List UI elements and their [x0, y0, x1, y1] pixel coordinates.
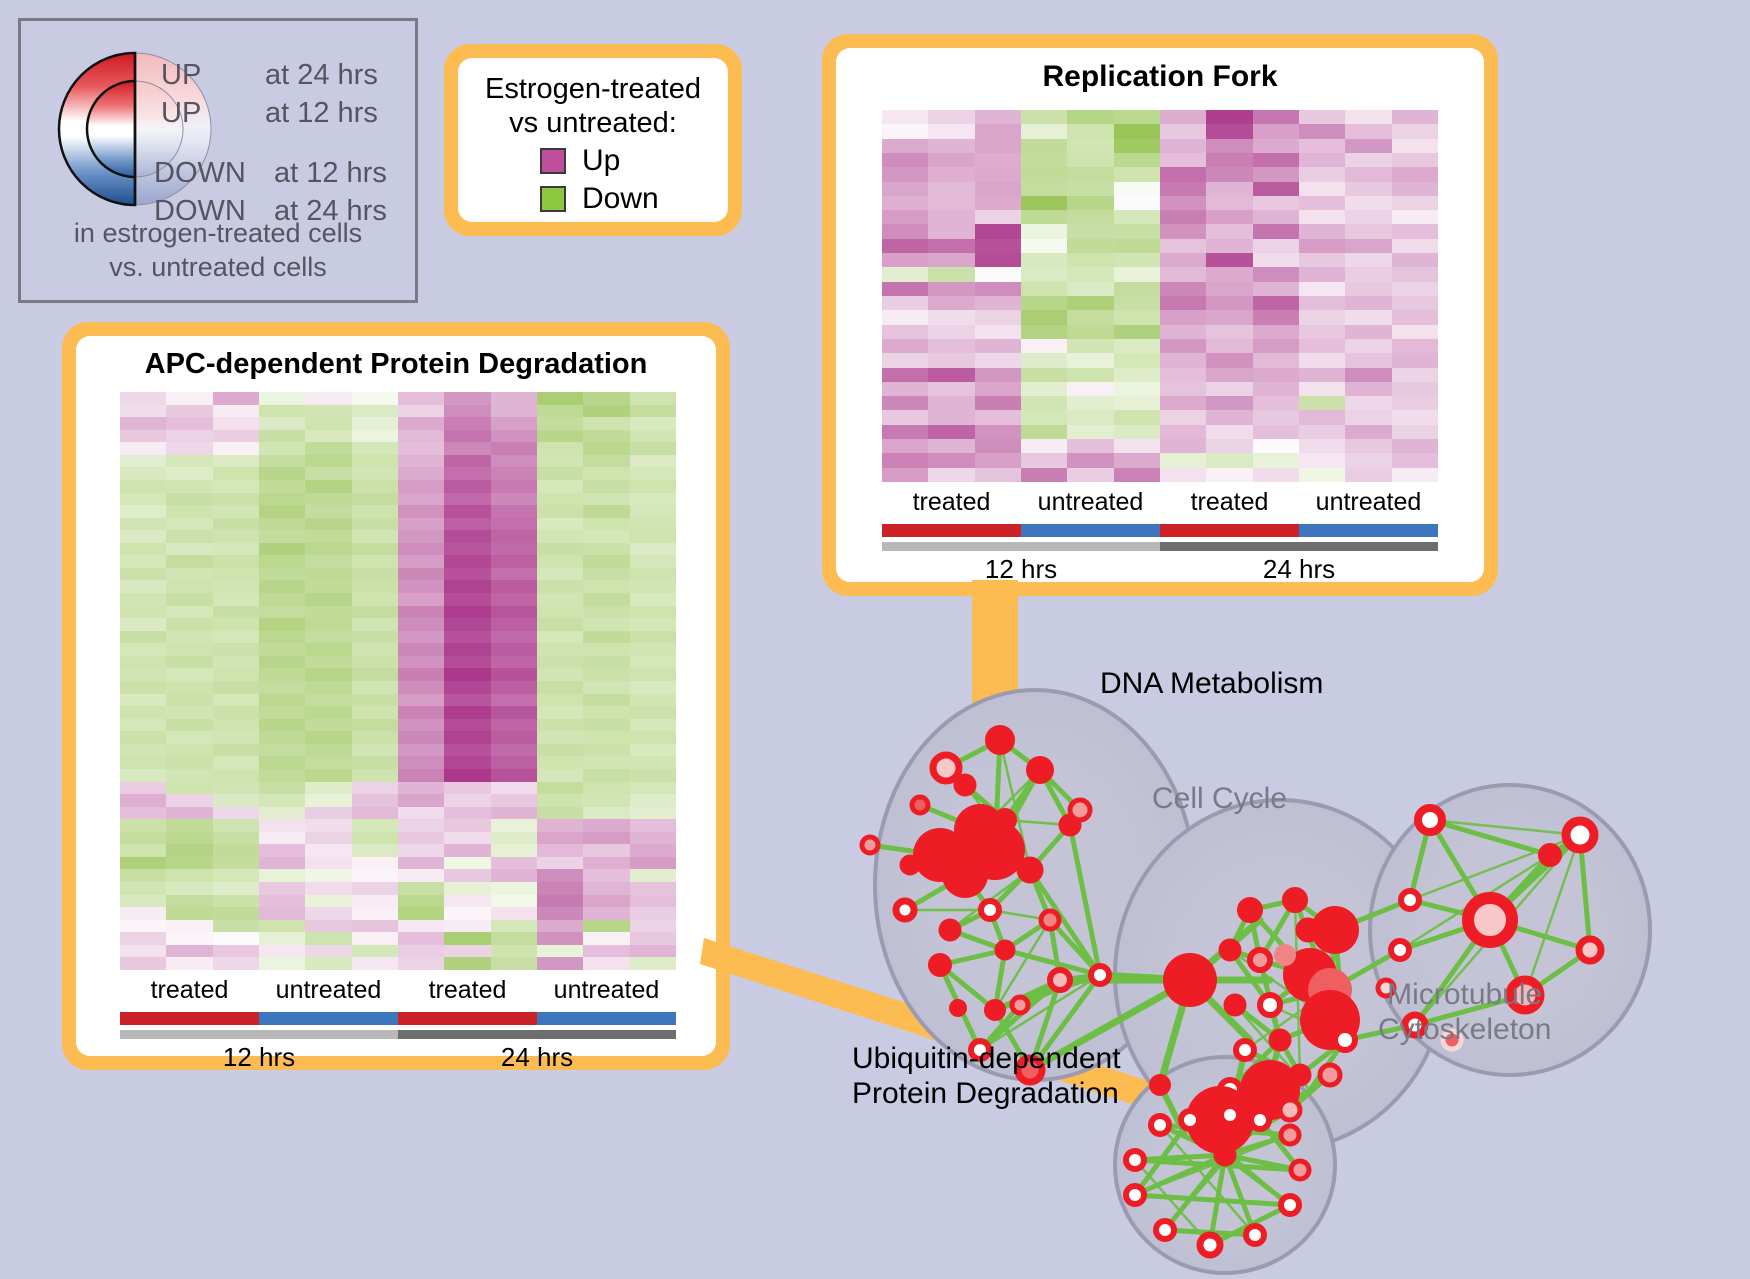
heatmap-cell: [166, 957, 212, 970]
heatmap-cell: [1253, 124, 1299, 138]
heatmap-cell: [213, 794, 259, 807]
heatmap-cell: [305, 631, 351, 644]
heatmap-cell: [1067, 310, 1113, 324]
heatmap-cell: [1160, 410, 1206, 424]
heatmap-cell: [213, 606, 259, 619]
heatmap-cell: [882, 239, 928, 253]
heatmap-cell: [259, 555, 305, 568]
heatmap-cell: [120, 731, 166, 744]
heatmap-cell: [1021, 339, 1067, 353]
heatmap-cell: [1114, 139, 1160, 153]
heatmap-cell: [398, 518, 444, 531]
heatmap-cell: [1114, 382, 1160, 396]
time-bar-segment-0: [120, 1030, 398, 1039]
heatmap-cell: [120, 392, 166, 405]
color-key-caption-line1: in estrogen-treated cells: [21, 217, 415, 251]
heatmap-cell: [398, 455, 444, 468]
heatmap-cell: [1253, 239, 1299, 253]
heatmap-cell: [630, 957, 676, 970]
heatmap-cell: [259, 694, 305, 707]
heatmap-cell: [1253, 267, 1299, 281]
heatmap-cell: [120, 681, 166, 694]
heatmap-cell: [975, 139, 1021, 153]
heatmap-cell: [537, 706, 583, 719]
heatmap-cell: [120, 530, 166, 543]
heatmap-cell: [882, 296, 928, 310]
heatmap-cell: [975, 239, 1021, 253]
heatmap-cell: [1160, 267, 1206, 281]
heatmap-cell: [1021, 153, 1067, 167]
heatmap-cell: [1067, 382, 1113, 396]
heatmap-cell: [1160, 396, 1206, 410]
heatmap-cell: [213, 920, 259, 933]
heatmap-cell: [398, 606, 444, 619]
heatmap-cell: [1392, 253, 1438, 267]
heatmap-cell: [398, 467, 444, 480]
heatmap-cell: [259, 807, 305, 820]
heatmap-cell: [444, 606, 490, 619]
apc-time-bar: [120, 1030, 676, 1039]
heatmap-cell: [1160, 382, 1206, 396]
heatmap-cell: [259, 480, 305, 493]
heatmap-cell: [1021, 253, 1067, 267]
heatmap-cell: [120, 480, 166, 493]
heatmap-cell: [1067, 224, 1113, 238]
heatmap-cell: [1160, 439, 1206, 453]
legend-title-line1: Estrogen-treated: [458, 72, 728, 106]
heatmap-cell: [166, 631, 212, 644]
heatmap-cell: [1345, 425, 1391, 439]
heatmap-cell: [1392, 282, 1438, 296]
heatmap-cell: [491, 832, 537, 845]
heatmap-cell: [537, 530, 583, 543]
heatmap-cell: [491, 706, 537, 719]
heatmap-cell: [491, 920, 537, 933]
heatmap-cell: [305, 417, 351, 430]
heatmap-cell: [1253, 182, 1299, 196]
heatmap-cell: [975, 382, 1021, 396]
heatmap-cell: [928, 339, 974, 353]
apc-sample-label-3: untreated: [537, 976, 676, 1005]
heatmap-cell: [398, 392, 444, 405]
heatmap-cell: [583, 405, 629, 418]
heatmap-cell: [352, 442, 398, 455]
heatmap-cell: [1067, 453, 1113, 467]
heatmap-cell: [537, 744, 583, 757]
heatmap-cell: [213, 392, 259, 405]
replication-fork-panel: Replication Fork treated untreated treat…: [822, 34, 1498, 596]
heatmap-cell: [1392, 339, 1438, 353]
heatmap-cell: [1206, 110, 1252, 124]
heatmap-cell: [305, 731, 351, 744]
heatmap-cell: [166, 568, 212, 581]
heatmap-cell: [491, 555, 537, 568]
heatmap-cell: [213, 530, 259, 543]
heatmap-cell: [166, 606, 212, 619]
heatmap-cell: [1392, 296, 1438, 310]
heatmap-cell: [398, 819, 444, 832]
heatmap-cell: [928, 282, 974, 296]
heatmap-cell: [1253, 167, 1299, 181]
heatmap-cell: [444, 932, 490, 945]
time-bar-segment-0: [882, 542, 1160, 551]
heatmap-cell: [630, 455, 676, 468]
heatmap-cell: [398, 480, 444, 493]
heatmap-cell: [166, 857, 212, 870]
heatmap-cell: [975, 124, 1021, 138]
heatmap-cell: [1114, 310, 1160, 324]
heatmap-cell: [537, 719, 583, 732]
heatmap-cell: [491, 844, 537, 857]
heatmap-cell: [537, 455, 583, 468]
heatmap-cell: [491, 807, 537, 820]
heatmap-cell: [166, 643, 212, 656]
heatmap-cell: [1067, 167, 1113, 181]
heatmap-cell: [537, 756, 583, 769]
heatmap-cell: [583, 882, 629, 895]
time-bar-segment-1: [1160, 542, 1438, 551]
heatmap-cell: [537, 555, 583, 568]
heatmap-cell: [1206, 267, 1252, 281]
heatmap-cell: [583, 957, 629, 970]
key-row-1-word: UP: [161, 97, 201, 130]
heatmap-cell: [491, 493, 537, 506]
heatmap-cell: [1160, 282, 1206, 296]
heatmap-cell: [491, 957, 537, 970]
heatmap-cell: [352, 844, 398, 857]
heatmap-cell: [882, 325, 928, 339]
heatmap-cell: [1253, 439, 1299, 453]
heatmap-cell: [491, 430, 537, 443]
heatmap-cell: [928, 196, 974, 210]
heatmap-cell: [630, 430, 676, 443]
heatmap-cell: [259, 869, 305, 882]
heatmap-cell: [398, 555, 444, 568]
heatmap-cell: [398, 882, 444, 895]
heatmap-cell: [537, 417, 583, 430]
heatmap-cell: [583, 744, 629, 757]
heatmap-cell: [537, 656, 583, 669]
heatmap-cell: [213, 430, 259, 443]
heatmap-cell: [398, 907, 444, 920]
heatmap-cell: [491, 932, 537, 945]
heatmap-cell: [352, 480, 398, 493]
heatmap-cell: [120, 957, 166, 970]
heatmap-cell: [491, 480, 537, 493]
heatmap-cell: [444, 392, 490, 405]
legend-title: Estrogen-treated vs untreated:: [458, 72, 728, 140]
heatmap-cell: [928, 310, 974, 324]
heatmap-cell: [537, 882, 583, 895]
heatmap-cell: [305, 455, 351, 468]
heatmap-cell: [1160, 182, 1206, 196]
heatmap-cell: [213, 706, 259, 719]
heatmap-cell: [1160, 253, 1206, 267]
heatmap-cell: [120, 543, 166, 556]
heatmap-cell: [1392, 425, 1438, 439]
heatmap-cell: [1206, 396, 1252, 410]
heatmap-cell: [1392, 239, 1438, 253]
heatmap-cell: [583, 467, 629, 480]
heatmap-cell: [259, 392, 305, 405]
heatmap-cell: [259, 719, 305, 732]
heatmap-cell: [583, 920, 629, 933]
heatmap-cell: [491, 606, 537, 619]
heatmap-cell: [352, 593, 398, 606]
heatmap-cell: [213, 442, 259, 455]
heatmap-cell: [537, 869, 583, 882]
heatmap-cell: [537, 518, 583, 531]
heatmap-cell: [398, 593, 444, 606]
heatmap-cell: [259, 832, 305, 845]
heatmap-cell: [1160, 196, 1206, 210]
heatmap-cell: [120, 593, 166, 606]
heatmap-cell: [1021, 196, 1067, 210]
heatmap-cell: [1392, 124, 1438, 138]
heatmap-cell: [882, 224, 928, 238]
heatmap-cell: [1253, 396, 1299, 410]
heatmap-cell: [630, 643, 676, 656]
heatmap-cell: [1253, 310, 1299, 324]
treatment-bar-segment-1: [259, 1012, 398, 1025]
heatmap-cell: [1206, 310, 1252, 324]
heatmap-cell: [491, 744, 537, 757]
heatmap-cell: [1067, 282, 1113, 296]
heatmap-cell: [120, 656, 166, 669]
heatmap-cell: [305, 530, 351, 543]
heatmap-cell: [398, 543, 444, 556]
heatmap-cell: [444, 580, 490, 593]
heatmap-cell: [1299, 153, 1345, 167]
apc-time-label-0: 12 hrs: [120, 1042, 398, 1073]
heatmap-cell: [305, 442, 351, 455]
heatmap-cell: [213, 631, 259, 644]
heatmap-cell: [1021, 282, 1067, 296]
heatmap-cell: [444, 518, 490, 531]
heatmap-cell: [630, 530, 676, 543]
heatmap-cell: [120, 932, 166, 945]
heatmap-cell: [1345, 167, 1391, 181]
heatmap-cell: [882, 182, 928, 196]
heatmap-cell: [882, 339, 928, 353]
heatmap-cell: [583, 417, 629, 430]
heatmap-cell: [583, 493, 629, 506]
heatmap-cell: [630, 719, 676, 732]
heatmap-cell: [120, 668, 166, 681]
heatmap-cell: [305, 656, 351, 669]
heatmap-cell: [305, 920, 351, 933]
heatmap-cell: [398, 756, 444, 769]
rf-sample-label-2: treated: [1160, 488, 1299, 517]
heatmap-cell: [882, 210, 928, 224]
heatmap-cell: [120, 920, 166, 933]
heatmap-cell: [583, 907, 629, 920]
heatmap-cell: [259, 731, 305, 744]
heatmap-cell: [1206, 182, 1252, 196]
heatmap-cell: [444, 782, 490, 795]
heatmap-cell: [352, 643, 398, 656]
heatmap-cell: [537, 782, 583, 795]
heatmap-cell: [1392, 396, 1438, 410]
heatmap-cell: [213, 907, 259, 920]
heatmap-cell: [259, 580, 305, 593]
heatmap-cell: [259, 782, 305, 795]
heatmap-cell: [352, 430, 398, 443]
heatmap-cell: [1021, 382, 1067, 396]
rf-sample-label-1: untreated: [1021, 488, 1160, 517]
heatmap-cell: [491, 719, 537, 732]
heatmap-cell: [975, 425, 1021, 439]
heatmap-cell: [444, 857, 490, 870]
heatmap-cell: [491, 417, 537, 430]
heatmap-cell: [1021, 124, 1067, 138]
heatmap-cell: [1299, 325, 1345, 339]
heatmap-cell: [1021, 453, 1067, 467]
heatmap-cell: [1021, 468, 1067, 482]
heatmap-cell: [166, 932, 212, 945]
heatmap-cell: [166, 819, 212, 832]
heatmap-cell: [120, 430, 166, 443]
heatmap-cell: [975, 296, 1021, 310]
heatmap-cell: [213, 405, 259, 418]
heatmap-cell: [583, 932, 629, 945]
heatmap-cell: [352, 719, 398, 732]
heatmap-cell: [1253, 368, 1299, 382]
heatmap-cell: [305, 467, 351, 480]
legend-inner: Estrogen-treated vs untreated: Up Down: [458, 58, 728, 222]
heatmap-cell: [1021, 224, 1067, 238]
heatmap-cell: [305, 606, 351, 619]
heatmap-cell: [444, 819, 490, 832]
heatmap-cell: [398, 706, 444, 719]
heatmap-cell: [305, 480, 351, 493]
heatmap-cell: [166, 807, 212, 820]
heatmap-cell: [398, 782, 444, 795]
heatmap-cell: [975, 453, 1021, 467]
heatmap-cell: [928, 139, 974, 153]
heatmap-cell: [1067, 425, 1113, 439]
heatmap-cell: [1392, 353, 1438, 367]
heatmap-cell: [352, 920, 398, 933]
heatmap-cell: [120, 643, 166, 656]
legend-item-up: Up: [540, 144, 620, 178]
heatmap-cell: [630, 656, 676, 669]
heatmap-cell: [352, 493, 398, 506]
heatmap-cell: [537, 932, 583, 945]
heatmap-cell: [537, 857, 583, 870]
apc-treatment-bar: [120, 1012, 676, 1025]
heatmap-cell: [537, 543, 583, 556]
heatmap-cell: [444, 681, 490, 694]
heatmap-cell: [352, 580, 398, 593]
heatmap-cell: [213, 882, 259, 895]
heatmap-cell: [213, 744, 259, 757]
heatmap-cell: [1206, 439, 1252, 453]
heatmap-cell: [120, 744, 166, 757]
heatmap-cell: [1345, 239, 1391, 253]
heatmap-cell: [1067, 468, 1113, 482]
replication-fork-title: Replication Fork: [836, 60, 1484, 94]
heatmap-cell: [491, 819, 537, 832]
heatmap-cell: [928, 382, 974, 396]
heatmap-cell: [1345, 196, 1391, 210]
heatmap-cell: [1160, 296, 1206, 310]
heatmap-cell: [928, 410, 974, 424]
heatmap-cell: [259, 844, 305, 857]
heatmap-cell: [1160, 153, 1206, 167]
heatmap-cell: [630, 593, 676, 606]
heatmap-cell: [1392, 410, 1438, 424]
heatmap-cell: [305, 681, 351, 694]
heatmap-cell: [166, 844, 212, 857]
heatmap-cell: [928, 368, 974, 382]
heatmap-cell: [630, 480, 676, 493]
heatmap-cell: [305, 580, 351, 593]
heatmap-cell: [1067, 182, 1113, 196]
heatmap-cell: [444, 882, 490, 895]
heatmap-cell: [1067, 353, 1113, 367]
heatmap-cell: [213, 869, 259, 882]
heatmap-cell: [1114, 239, 1160, 253]
heatmap-cell: [1160, 110, 1206, 124]
heatmap-cell: [444, 756, 490, 769]
heatmap-cell: [259, 656, 305, 669]
heatmap-cell: [928, 224, 974, 238]
heatmap-cell: [120, 832, 166, 845]
heatmap-cell: [213, 681, 259, 694]
heatmap-cell: [1345, 410, 1391, 424]
heatmap-cell: [398, 769, 444, 782]
apc-time-label-1: 24 hrs: [398, 1042, 676, 1073]
heatmap-cell: [352, 618, 398, 631]
heatmap-cell: [444, 631, 490, 644]
heatmap-cell: [1067, 296, 1113, 310]
heatmap-cell: [398, 405, 444, 418]
heatmap-cell: [1299, 425, 1345, 439]
rf-sample-label-0: treated: [882, 488, 1021, 517]
heatmap-cell: [352, 882, 398, 895]
heatmap-cell: [259, 442, 305, 455]
heatmap-cell: [630, 405, 676, 418]
heatmap-cell: [975, 167, 1021, 181]
heatmap-cell: [491, 568, 537, 581]
heatmap-cell: [1114, 224, 1160, 238]
heatmap-cell: [882, 139, 928, 153]
heatmap-cell: [398, 580, 444, 593]
heatmap-cell: [1345, 139, 1391, 153]
heatmap-cell: [166, 580, 212, 593]
heatmap-cell: [166, 907, 212, 920]
heatmap-cell: [1160, 425, 1206, 439]
heatmap-cell: [259, 493, 305, 506]
heatmap-cell: [213, 668, 259, 681]
heatmap-cell: [491, 631, 537, 644]
heatmap-cell: [1021, 353, 1067, 367]
heatmap-cell: [259, 543, 305, 556]
heatmap-cell: [975, 339, 1021, 353]
heatmap-cell: [1067, 139, 1113, 153]
heatmap-cell: [491, 392, 537, 405]
heatmap-cell: [491, 869, 537, 882]
heatmap-cell: [537, 606, 583, 619]
heatmap-cell: [1345, 182, 1391, 196]
heatmap-cell: [537, 392, 583, 405]
heatmap-cell: [882, 396, 928, 410]
heatmap-cell: [1021, 267, 1067, 281]
heatmap-cell: [928, 124, 974, 138]
heatmap-cell: [491, 580, 537, 593]
heatmap-cell: [1299, 439, 1345, 453]
